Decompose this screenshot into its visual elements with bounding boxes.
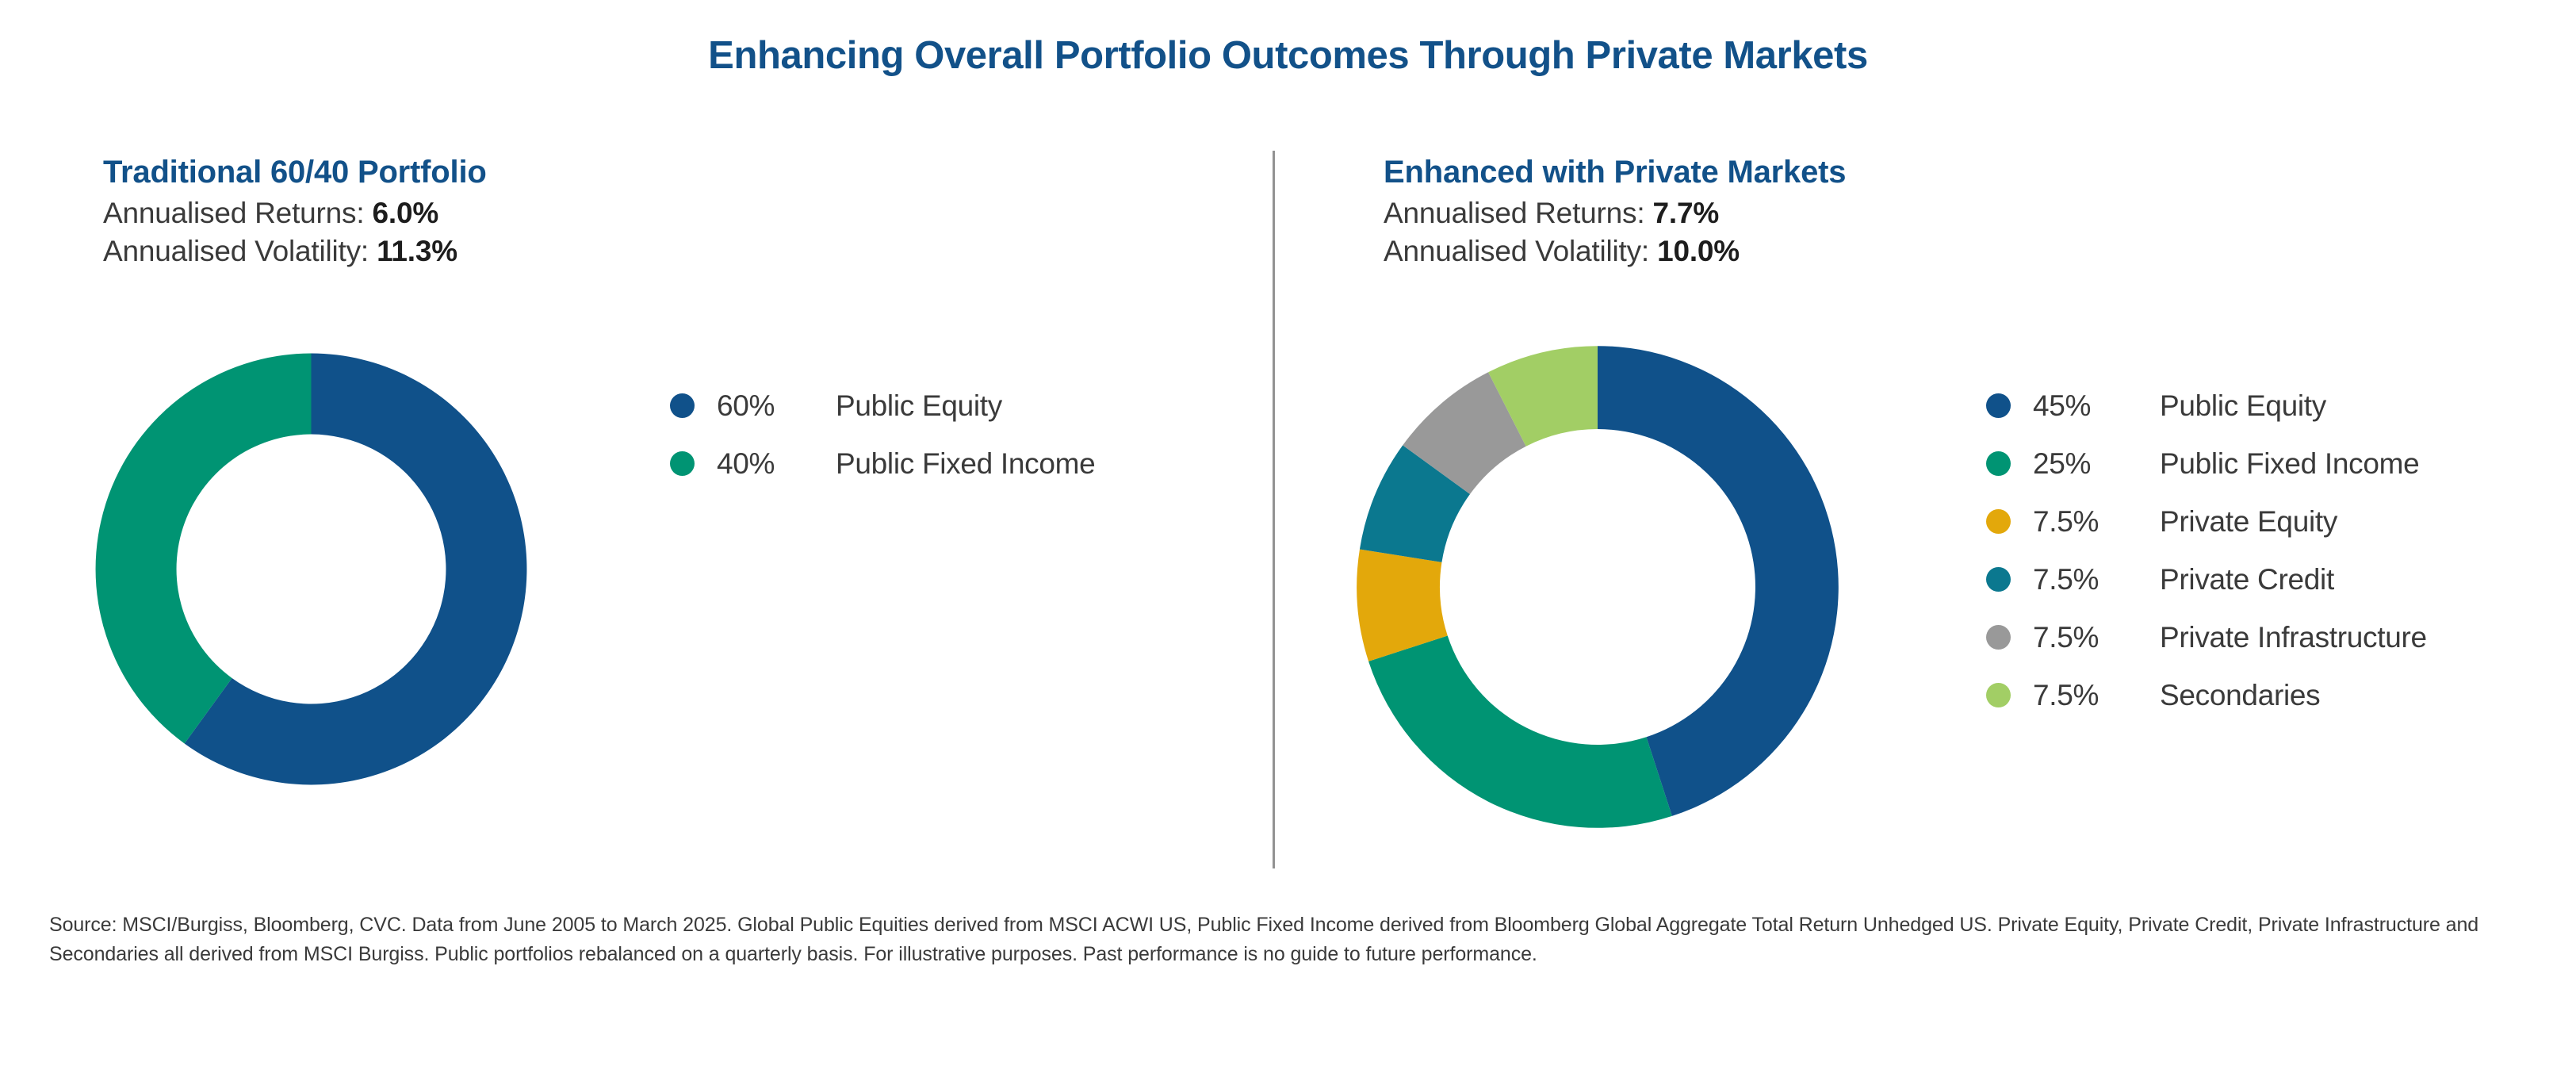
panel-divider [1273, 151, 1275, 868]
donut-slice[interactable] [1368, 635, 1672, 827]
legend-label: Public Fixed Income [836, 447, 1095, 481]
legend-label: Secondaries [2160, 679, 2320, 712]
enhanced-legend-item[interactable]: 7.5%Private Equity [1986, 493, 2427, 550]
enhanced-legend-item[interactable]: 45%Public Equity [1986, 377, 2427, 435]
legend-label: Public Fixed Income [2160, 447, 2419, 481]
donut-enhanced-svg [1352, 341, 1843, 833]
legend-swatch-icon [1986, 567, 2011, 592]
legend-percent: 25% [2033, 447, 2160, 481]
donut-chart-enhanced [1352, 341, 1843, 833]
enhanced-annualised-volatility: Annualised Volatility: 10.0% [1384, 235, 2541, 268]
panel-enhanced-portfolio: Enhanced with Private Markets Annualised… [1384, 155, 2541, 273]
traditional-returns-value: 6.0% [373, 197, 439, 229]
enhanced-legend-item[interactable]: 7.5%Private Credit [1986, 550, 2427, 608]
traditional-volatility-label: Annualised Volatility: [103, 235, 369, 267]
enhanced-annualised-returns: Annualised Returns: 7.7% [1384, 197, 2541, 230]
legend-percent: 45% [2033, 389, 2160, 423]
legend-label: Private Infrastructure [2160, 621, 2427, 654]
donut-chart-traditional [91, 349, 531, 789]
enhanced-returns-value: 7.7% [1653, 197, 1720, 229]
enhanced-heading: Enhanced with Private Markets [1384, 155, 2541, 190]
enhanced-legend-item[interactable]: 25%Public Fixed Income [1986, 435, 2427, 493]
panel-traditional-portfolio: Traditional 60/40 Portfolio Annualised R… [103, 155, 1237, 273]
legend-swatch-icon [1986, 393, 2011, 418]
legend-percent: 60% [717, 389, 836, 423]
traditional-annualised-returns: Annualised Returns: 6.0% [103, 197, 1237, 230]
legend-label: Public Equity [836, 389, 1002, 423]
legend-swatch-icon [1986, 509, 2011, 534]
legend-percent: 7.5% [2033, 563, 2160, 596]
donut-traditional-svg [91, 349, 531, 789]
traditional-legend-item[interactable]: 60%Public Equity [670, 377, 1095, 435]
legend-traditional: 60%Public Equity40%Public Fixed Income [670, 377, 1095, 493]
traditional-annualised-volatility: Annualised Volatility: 11.3% [103, 235, 1237, 268]
enhanced-legend-item[interactable]: 7.5%Secondaries [1986, 666, 2427, 724]
page-title: Enhancing Overall Portfolio Outcomes Thr… [0, 33, 2576, 78]
legend-swatch-icon [1986, 451, 2011, 476]
legend-percent: 40% [717, 447, 836, 481]
legend-swatch-icon [670, 393, 695, 418]
traditional-heading: Traditional 60/40 Portfolio [103, 155, 1237, 190]
traditional-returns-label: Annualised Returns: [103, 197, 364, 229]
donut-slice[interactable] [96, 354, 312, 744]
legend-label: Private Credit [2160, 563, 2334, 596]
enhanced-volatility-label: Annualised Volatility: [1384, 235, 1649, 267]
legend-percent: 7.5% [2033, 679, 2160, 712]
traditional-legend-item[interactable]: 40%Public Fixed Income [670, 435, 1095, 493]
enhanced-returns-label: Annualised Returns: [1384, 197, 1644, 229]
legend-percent: 7.5% [2033, 505, 2160, 539]
legend-label: Private Equity [2160, 505, 2337, 539]
enhanced-legend-item[interactable]: 7.5%Private Infrastructure [1986, 608, 2427, 666]
legend-percent: 7.5% [2033, 621, 2160, 654]
legend-swatch-icon [1986, 625, 2011, 650]
legend-enhanced: 45%Public Equity25%Public Fixed Income7.… [1986, 377, 2427, 724]
source-note: Source: MSCI/Burgiss, Bloomberg, CVC. Da… [49, 911, 2483, 969]
legend-swatch-icon [670, 451, 695, 476]
legend-label: Public Equity [2160, 389, 2326, 423]
traditional-volatility-value: 11.3% [377, 235, 457, 267]
enhanced-volatility-value: 10.0% [1657, 235, 1740, 267]
legend-swatch-icon [1986, 683, 2011, 707]
